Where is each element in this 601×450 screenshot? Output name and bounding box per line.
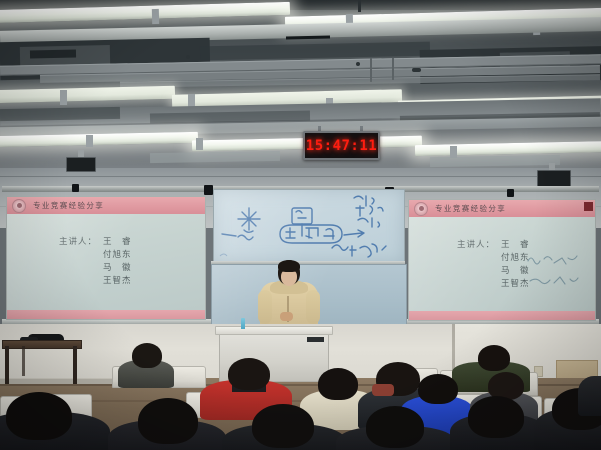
ceiling-light-tube bbox=[0, 86, 175, 104]
sprinkler-head bbox=[186, 55, 190, 59]
presenter-hair bbox=[278, 260, 300, 272]
audience-member-head bbox=[468, 396, 524, 438]
slide-header-right: 专业竞赛经验分享 bbox=[409, 200, 595, 217]
slide-body-left: 主讲人： 王 睿 付旭东 马 徽 王智杰 bbox=[7, 214, 205, 310]
lecture-hall-photo: 15:47:11 专业竞赛经验分享 主讲人： 王 睿 付旭东 马 徽 王智杰 bbox=[0, 0, 601, 450]
speaker-mount-left bbox=[78, 150, 84, 157]
projection-slide-right: 专业竞赛经验分享 主讲人： 王 睿 付旭东 马 徽 王智杰 bbox=[408, 199, 596, 321]
presenter-arm-left bbox=[258, 290, 272, 324]
center-whiteboard bbox=[213, 189, 405, 264]
university-emblem-icon bbox=[12, 199, 26, 213]
speaker-mount-right bbox=[549, 163, 555, 170]
audience-member-head bbox=[366, 406, 424, 448]
sprinkler-head bbox=[356, 62, 360, 66]
water-bottle bbox=[241, 318, 245, 329]
slide-header-left: 专业竞赛经验分享 bbox=[7, 197, 205, 214]
sprinkler-head bbox=[412, 68, 421, 72]
audience-member-head bbox=[318, 368, 358, 400]
slide-footer-right bbox=[409, 311, 595, 320]
audience-member-scarf bbox=[372, 384, 394, 396]
lectern-control-panel[interactable] bbox=[307, 337, 324, 342]
audience-member-shoulders bbox=[578, 376, 601, 416]
lectern-surface bbox=[215, 326, 333, 335]
audience-member-head bbox=[478, 345, 510, 371]
audience-member-head bbox=[138, 398, 198, 444]
slide-body-right: 主讲人： 王 睿 付旭东 马 徽 王智杰 bbox=[409, 217, 595, 311]
side-table bbox=[2, 340, 80, 384]
slide-speaker-label: 主讲人： bbox=[59, 236, 97, 249]
slide-footer-left bbox=[7, 310, 205, 319]
presenter-hand bbox=[280, 312, 293, 321]
presenter bbox=[258, 260, 320, 332]
digital-wall-clock: 15:47:11 bbox=[303, 131, 380, 160]
audience-member-head bbox=[132, 343, 162, 368]
university-emblem-icon bbox=[414, 202, 428, 216]
audience-member-head bbox=[418, 374, 458, 404]
wall-speaker-left bbox=[66, 157, 96, 172]
wall-speaker-right bbox=[537, 170, 571, 187]
slide-title-text: 专业竞赛经验分享 bbox=[435, 203, 506, 214]
slide-speaker-name: 付旭东 bbox=[103, 249, 132, 262]
slide-speaker-label: 主讲人： bbox=[457, 239, 495, 252]
audience-member-head bbox=[228, 358, 270, 390]
table-top bbox=[2, 340, 82, 349]
ceiling-light-tube bbox=[415, 141, 601, 156]
presenter-arm-right bbox=[306, 290, 320, 324]
projection-slide-left: 专业竞赛经验分享 主讲人： 王 睿 付旭东 马 徽 王智杰 bbox=[6, 196, 206, 320]
whiteboard-handwriting bbox=[214, 190, 404, 263]
clock-time-text: 15:47:11 bbox=[306, 138, 377, 154]
slide-speaker-name: 王 睿 bbox=[103, 236, 132, 249]
ceiling bbox=[0, 0, 601, 175]
audience-member-head bbox=[6, 392, 72, 440]
slide-title-text: 专业竞赛经验分享 bbox=[33, 200, 104, 211]
slide-speaker-name: 王智杰 bbox=[103, 275, 132, 288]
slide-speaker-name: 马 徽 bbox=[103, 262, 132, 275]
whiteboard-handwriting-overlay bbox=[524, 239, 592, 295]
audience-member-head bbox=[252, 404, 314, 448]
